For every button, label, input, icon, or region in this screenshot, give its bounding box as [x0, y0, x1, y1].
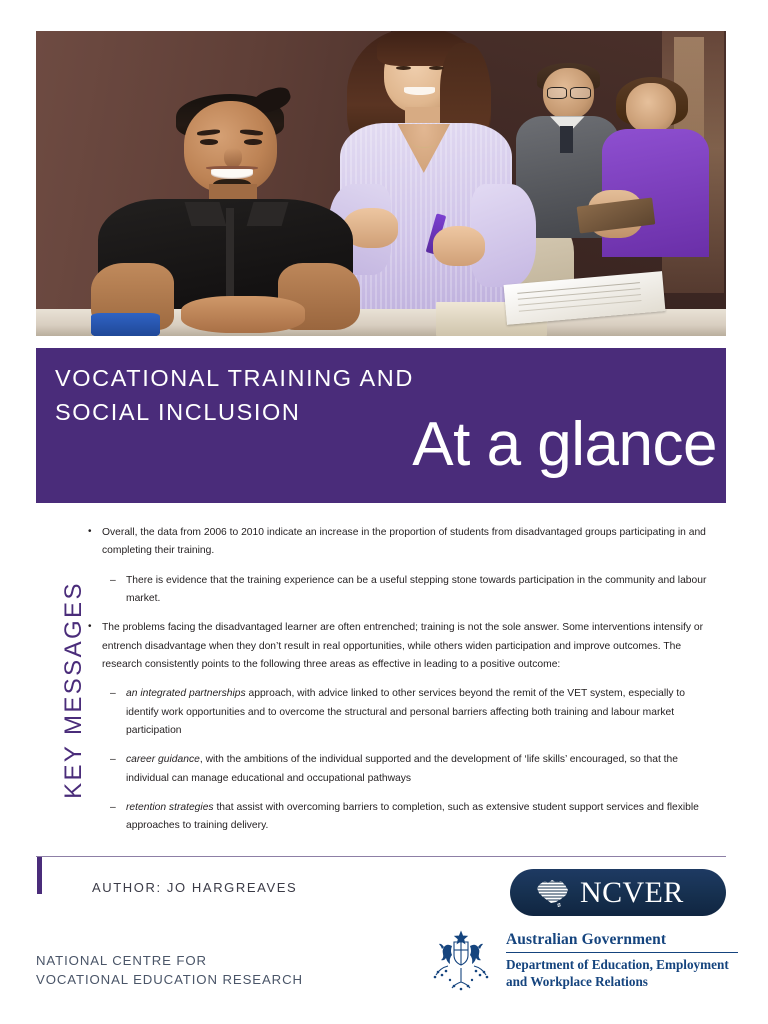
cover-photo [36, 31, 726, 336]
key-messages-content: Overall, the data from 2006 to 2010 indi… [86, 524, 718, 847]
key-message-subbullet: There is evidence that the training expe… [110, 572, 718, 609]
government-department-line-1: Department of Education, Employment [506, 957, 738, 974]
standing-woman-hand-left [433, 226, 485, 266]
key-message-bullet: The problems facing the disadvantaged le… [86, 619, 718, 674]
subbullet-lead: career guidance [126, 754, 200, 765]
australia-map-icon [532, 878, 572, 908]
government-divider [506, 952, 738, 953]
subtitle-at-a-glance: At a glance [412, 414, 717, 476]
glasses-right-lens [570, 87, 591, 98]
government-title: Australian Government [506, 931, 738, 952]
government-department-line-2: and Workplace Relations [506, 974, 738, 991]
key-message-subbullet: retention strategies that assist with ov… [110, 799, 718, 836]
government-text-block: Australian Government Department of Educ… [506, 931, 738, 991]
standing-woman-eye-right [429, 66, 443, 70]
title-line-2: SOCIAL INCLUSION [55, 399, 300, 426]
ncver-logo: NCVER [510, 869, 726, 916]
section-label-key-messages: KEY MESSAGES [60, 540, 88, 840]
title-banner: VOCATIONAL TRAINING AND SOCIAL INCLUSION… [36, 348, 726, 503]
seated-man-eye-left [200, 139, 218, 144]
author-line: AUTHOR: JO HARGREAVES [92, 880, 297, 895]
key-message-bullet: Overall, the data from 2006 to 2010 indi… [86, 524, 718, 561]
australian-government-logo: Australian Government Department of Educ… [428, 928, 738, 996]
organisation-name: NATIONAL CENTRE FOR VOCATIONAL EDUCATION… [36, 951, 303, 989]
glasses-left-lens [547, 87, 568, 98]
organisation-name-line-1: NATIONAL CENTRE FOR [36, 951, 303, 970]
seated-man-collar-left [184, 202, 225, 226]
standing-woman-necklace [409, 132, 439, 148]
seated-man-hands [181, 296, 305, 333]
subbullet-text: There is evidence that the training expe… [126, 575, 706, 604]
government-department: Department of Education, Employment and … [506, 957, 738, 991]
key-message-subbullet: an integrated partnerships approach, wit… [110, 685, 718, 740]
seated-man-eye-right [244, 139, 262, 144]
seated-man-collar-right [246, 202, 287, 226]
subbullet-text: , with the ambitions of the individual s… [126, 754, 678, 783]
organisation-name-line-2: VOCATIONAL EDUCATION RESEARCH [36, 970, 303, 989]
blue-mug [91, 313, 160, 336]
background-student-1-tie [560, 126, 572, 153]
subbullet-lead: an integrated partnerships [126, 688, 246, 699]
footer-divider [36, 856, 726, 857]
commonwealth-coat-of-arms-icon [428, 928, 494, 992]
subbullet-lead: retention strategies [126, 802, 214, 813]
key-message-subbullet: career guidance, with the ambitions of t… [110, 751, 718, 788]
standing-woman-eye-left [396, 66, 410, 70]
photo-scene [36, 31, 726, 336]
title-line-1: VOCATIONAL TRAINING AND [55, 365, 414, 392]
footer-accent-bar [37, 857, 42, 894]
background-student-2-head [626, 83, 676, 133]
ncver-wordmark: NCVER [580, 876, 684, 910]
standing-woman-smile [404, 87, 434, 94]
